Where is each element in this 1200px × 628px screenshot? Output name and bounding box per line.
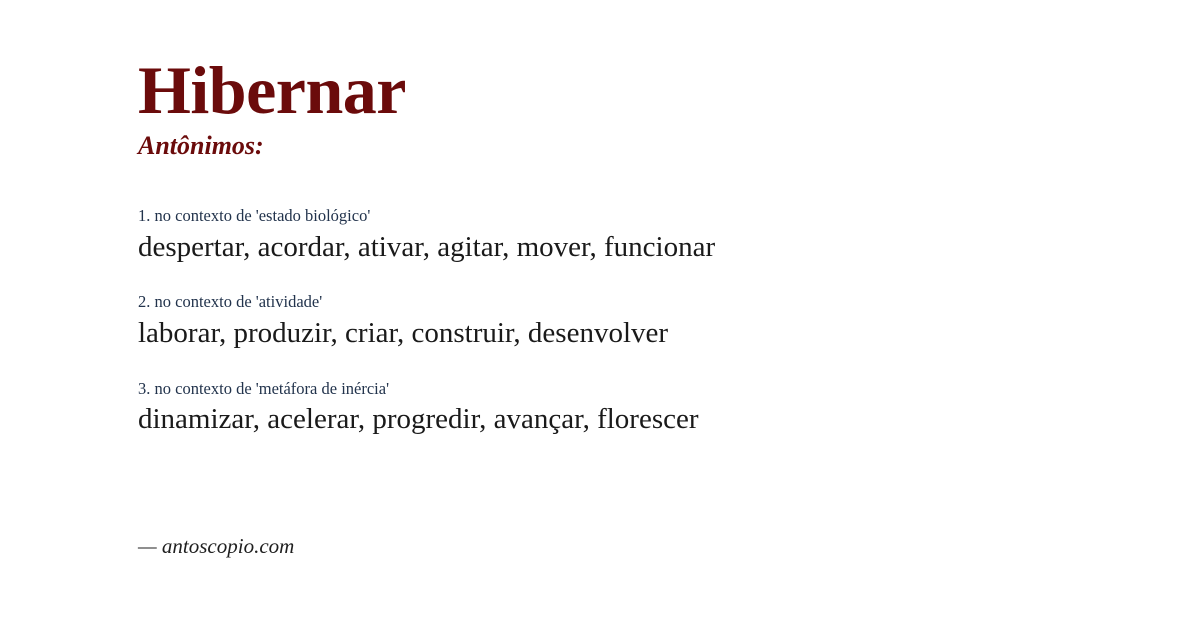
page-title: Hibernar	[138, 56, 406, 124]
sense-context: 1. no contexto de 'estado biológico'	[138, 206, 1160, 227]
antonyms-card: Hibernar Antônimos: 1. no contexto de 'e…	[0, 0, 1200, 628]
list-item: 1. no contexto de 'estado biológico' des…	[138, 206, 1160, 266]
sense-terms: despertar, acordar, ativar, agitar, move…	[138, 229, 1160, 267]
list-item: 2. no contexto de 'atividade' laborar, p…	[138, 292, 1160, 352]
sense-terms: dinamizar, acelerar, progredir, avançar,…	[138, 401, 1160, 439]
source-attribution: — antoscopio.com	[138, 534, 294, 559]
list-item: 3. no contexto de 'metáfora de inércia' …	[138, 379, 1160, 439]
sense-context: 3. no contexto de 'metáfora de inércia'	[138, 379, 1160, 400]
sense-list: 1. no contexto de 'estado biológico' des…	[138, 206, 1160, 439]
sense-terms: laborar, produzir, criar, construir, des…	[138, 315, 1160, 353]
sense-context: 2. no contexto de 'atividade'	[138, 292, 1160, 313]
section-label-antonyms: Antônimos:	[138, 133, 264, 159]
